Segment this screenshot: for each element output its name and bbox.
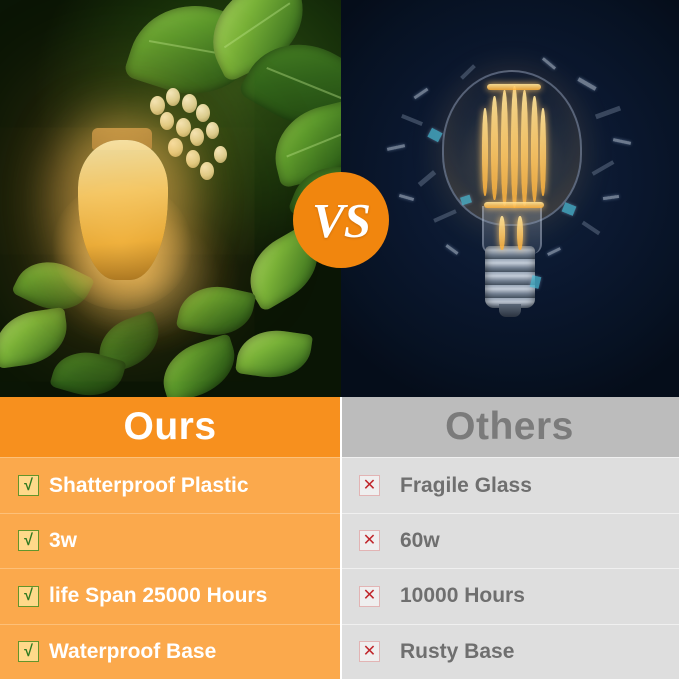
column-title-others: Others bbox=[445, 405, 574, 449]
glass-shard bbox=[530, 275, 542, 289]
glass-shard bbox=[414, 88, 429, 99]
column-others: Others ✕ Fragile Glass ✕ 60w ✕ 10000 Hou… bbox=[340, 397, 679, 679]
filament-shape bbox=[491, 96, 498, 200]
check-icon: √ bbox=[18, 586, 39, 607]
cross-icon: ✕ bbox=[359, 530, 380, 551]
check-icon: √ bbox=[18, 475, 39, 496]
table-row: √ Shatterproof Plastic bbox=[0, 457, 340, 512]
shatterproof-bulb-shape bbox=[78, 140, 168, 280]
vs-badge: VS bbox=[293, 172, 389, 268]
glass-shard bbox=[433, 209, 457, 222]
product-comparison-infographic: VS Ours √ Shatterproof Plastic √ 3w √ li… bbox=[0, 0, 679, 679]
filament-shape bbox=[487, 84, 541, 90]
column-header-others: Others bbox=[340, 397, 679, 457]
filament-shape bbox=[517, 216, 523, 250]
glass-shard bbox=[399, 194, 414, 201]
vs-badge-label: VS bbox=[312, 196, 370, 245]
column-ours: Ours √ Shatterproof Plastic √ 3w √ life … bbox=[0, 397, 340, 679]
feature-label: 3w bbox=[49, 529, 77, 553]
filament-shape bbox=[511, 86, 518, 208]
glass-shard bbox=[387, 144, 405, 151]
berry-shape bbox=[190, 128, 204, 146]
glass-shard bbox=[445, 244, 458, 255]
glass-shard bbox=[592, 160, 615, 175]
filament-shape bbox=[484, 202, 544, 208]
photo-strip: VS bbox=[0, 0, 679, 397]
feature-label: Shatterproof Plastic bbox=[49, 474, 249, 498]
berry-shape bbox=[160, 112, 174, 130]
bulb-screw-base bbox=[485, 246, 535, 308]
filament-shape bbox=[501, 90, 508, 206]
table-row: √ life Span 25000 Hours bbox=[0, 568, 340, 623]
feature-label: Waterproof Base bbox=[49, 640, 216, 664]
glowing-bulb-in-garden-photo bbox=[0, 0, 341, 397]
glass-shard bbox=[460, 64, 476, 79]
table-row: ✕ Fragile Glass bbox=[340, 457, 679, 512]
filament-shape bbox=[499, 216, 505, 250]
berry-shape bbox=[176, 118, 191, 137]
table-row: √ Waterproof Base bbox=[0, 624, 340, 679]
glass-shard bbox=[547, 247, 561, 256]
glass-shard bbox=[613, 138, 631, 145]
glass-shard bbox=[562, 202, 577, 216]
check-icon: √ bbox=[18, 530, 39, 551]
berry-shape bbox=[196, 104, 210, 122]
glass-shard bbox=[401, 114, 423, 126]
berry-shape bbox=[200, 162, 214, 180]
shattering-glass-bulb-photo bbox=[341, 0, 679, 397]
filament-shape bbox=[482, 108, 488, 196]
cross-icon: ✕ bbox=[359, 586, 380, 607]
feature-label: Rusty Base bbox=[400, 640, 514, 664]
bulb-tip bbox=[499, 304, 521, 317]
feature-label: Fragile Glass bbox=[400, 474, 532, 498]
berry-shape bbox=[168, 138, 183, 157]
column-divider bbox=[340, 397, 342, 679]
berry-shape bbox=[214, 146, 227, 163]
table-row: ✕ 10000 Hours bbox=[340, 568, 679, 623]
table-row: ✕ Rusty Base bbox=[340, 624, 679, 679]
feature-label: life Span 25000 Hours bbox=[49, 584, 267, 608]
berry-shape bbox=[186, 150, 200, 168]
glass-shard bbox=[582, 221, 601, 236]
cross-icon: ✕ bbox=[359, 475, 380, 496]
berry-shape bbox=[166, 88, 180, 106]
glass-shard bbox=[427, 128, 442, 142]
filament-shape bbox=[531, 96, 538, 202]
column-title-ours: Ours bbox=[123, 405, 216, 449]
berry-shape bbox=[182, 94, 197, 113]
glass-shard bbox=[418, 170, 437, 187]
check-icon: √ bbox=[18, 641, 39, 662]
berry-shape bbox=[206, 122, 219, 139]
feature-label: 60w bbox=[400, 529, 440, 553]
glass-shard bbox=[603, 195, 619, 200]
column-header-ours: Ours bbox=[0, 397, 340, 457]
table-row: ✕ 60w bbox=[340, 513, 679, 568]
glass-shard bbox=[577, 77, 596, 90]
glass-shard bbox=[595, 106, 621, 120]
filament-shape bbox=[521, 90, 528, 206]
table-row: √ 3w bbox=[0, 513, 340, 568]
feature-label: 10000 Hours bbox=[400, 584, 525, 608]
filament-shape bbox=[540, 108, 546, 196]
cross-icon: ✕ bbox=[359, 641, 380, 662]
glass-shard bbox=[542, 57, 556, 70]
